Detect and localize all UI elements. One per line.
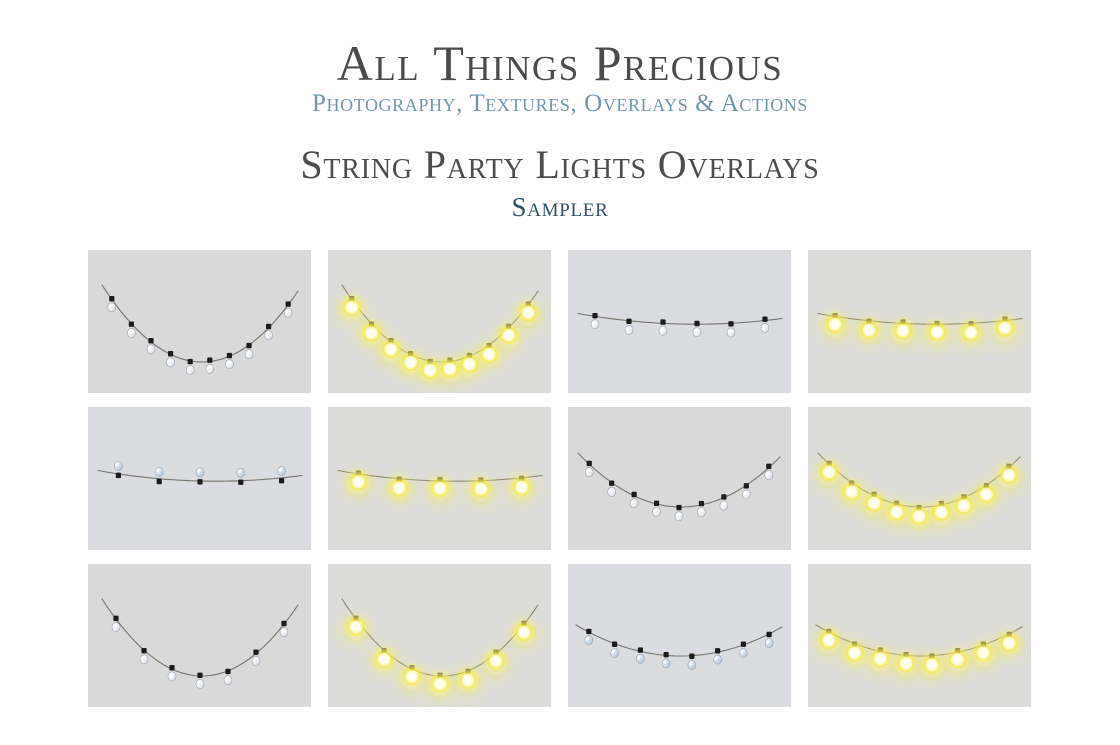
light-bulb bbox=[196, 468, 204, 485]
light-bulb bbox=[714, 648, 722, 664]
overlay-thumbnail[interactable] bbox=[328, 407, 551, 550]
overlay-thumbnail[interactable] bbox=[568, 250, 791, 393]
bulb-group bbox=[585, 461, 773, 521]
light-bulb bbox=[278, 467, 286, 484]
light-bulb bbox=[956, 317, 987, 348]
light-bulb bbox=[465, 473, 496, 504]
light-bulb bbox=[114, 461, 122, 478]
light-bulb bbox=[611, 642, 619, 658]
light-bulb bbox=[506, 472, 537, 503]
page-root: All Things Precious Photography, Texture… bbox=[0, 0, 1120, 745]
light-bulb bbox=[196, 673, 204, 689]
light-bulb bbox=[761, 316, 769, 332]
light-bulb bbox=[990, 312, 1021, 343]
overlay-thumbnail[interactable] bbox=[808, 407, 1031, 550]
overlay-thumbnail[interactable] bbox=[88, 564, 311, 707]
light-bulb bbox=[265, 324, 273, 340]
light-bulb bbox=[662, 652, 670, 668]
light-bulb bbox=[513, 297, 544, 328]
light-bulb bbox=[509, 617, 540, 648]
light-bulb bbox=[284, 301, 292, 317]
light-bulb bbox=[384, 473, 415, 504]
overlay-thumbnail[interactable] bbox=[328, 250, 551, 393]
light-string-wire bbox=[578, 314, 782, 325]
light-string-wire bbox=[576, 625, 782, 656]
light-bulb bbox=[206, 358, 214, 374]
light-bulb bbox=[245, 343, 253, 359]
light-bulb bbox=[127, 322, 135, 338]
bulb-group bbox=[585, 629, 773, 670]
overlay-sample-grid bbox=[88, 250, 1032, 707]
light-bulb bbox=[591, 313, 599, 329]
brand-title: All Things Precious bbox=[0, 36, 1120, 90]
light-bulb bbox=[659, 319, 667, 335]
light-bulb bbox=[425, 473, 456, 504]
bulb-group bbox=[591, 313, 769, 337]
product-subtitle: Sampler bbox=[0, 192, 1120, 222]
overlay-thumbnail[interactable] bbox=[88, 250, 311, 393]
overlay-thumbnail[interactable] bbox=[568, 564, 791, 707]
light-bulb bbox=[765, 464, 773, 480]
light-bulb bbox=[252, 650, 260, 666]
light-bulb bbox=[865, 643, 896, 674]
light-bulb bbox=[854, 315, 885, 346]
product-title: String Party Lights Overlays bbox=[0, 142, 1120, 188]
overlay-thumbnail[interactable] bbox=[808, 250, 1031, 393]
light-bulb bbox=[820, 309, 851, 340]
light-bulb bbox=[343, 466, 374, 497]
light-bulb bbox=[481, 645, 512, 676]
light-bulb bbox=[697, 501, 705, 517]
light-bulb bbox=[369, 644, 400, 675]
light-bulb bbox=[608, 480, 616, 496]
light-bulb bbox=[108, 296, 116, 312]
bulb-group bbox=[114, 461, 285, 485]
overlay-thumbnail[interactable] bbox=[328, 564, 551, 707]
light-bulb bbox=[994, 628, 1025, 659]
light-bulb bbox=[112, 616, 120, 632]
light-bulb bbox=[765, 632, 773, 648]
light-bulb bbox=[693, 321, 701, 337]
light-bulb bbox=[280, 621, 288, 637]
light-bulb bbox=[742, 483, 750, 499]
light-bulb bbox=[224, 669, 232, 685]
overlay-thumbnail[interactable] bbox=[568, 407, 791, 550]
overlay-thumbnail[interactable] bbox=[808, 564, 1031, 707]
brand-subtitle: Photography, Textures, Overlays & Action… bbox=[0, 90, 1120, 118]
light-bulb bbox=[155, 467, 163, 484]
light-bulb bbox=[888, 315, 919, 346]
light-bulb bbox=[397, 661, 428, 692]
light-string-wire bbox=[578, 453, 780, 507]
light-bulb bbox=[636, 647, 644, 663]
light-bulb bbox=[993, 460, 1024, 491]
light-bulb bbox=[336, 292, 367, 323]
light-bulb bbox=[425, 669, 456, 700]
light-bulb bbox=[839, 637, 870, 668]
light-bulb bbox=[140, 648, 148, 664]
light-bulb bbox=[453, 665, 484, 696]
light-bulb bbox=[585, 461, 593, 477]
light-bulb bbox=[922, 317, 953, 348]
light-bulb bbox=[237, 468, 245, 485]
overlay-thumbnail[interactable] bbox=[88, 407, 311, 550]
bulb-group bbox=[112, 616, 288, 689]
light-bulb bbox=[341, 612, 372, 643]
bulb-group bbox=[108, 296, 292, 375]
light-bulb bbox=[916, 649, 947, 680]
light-string-wire bbox=[102, 599, 298, 676]
